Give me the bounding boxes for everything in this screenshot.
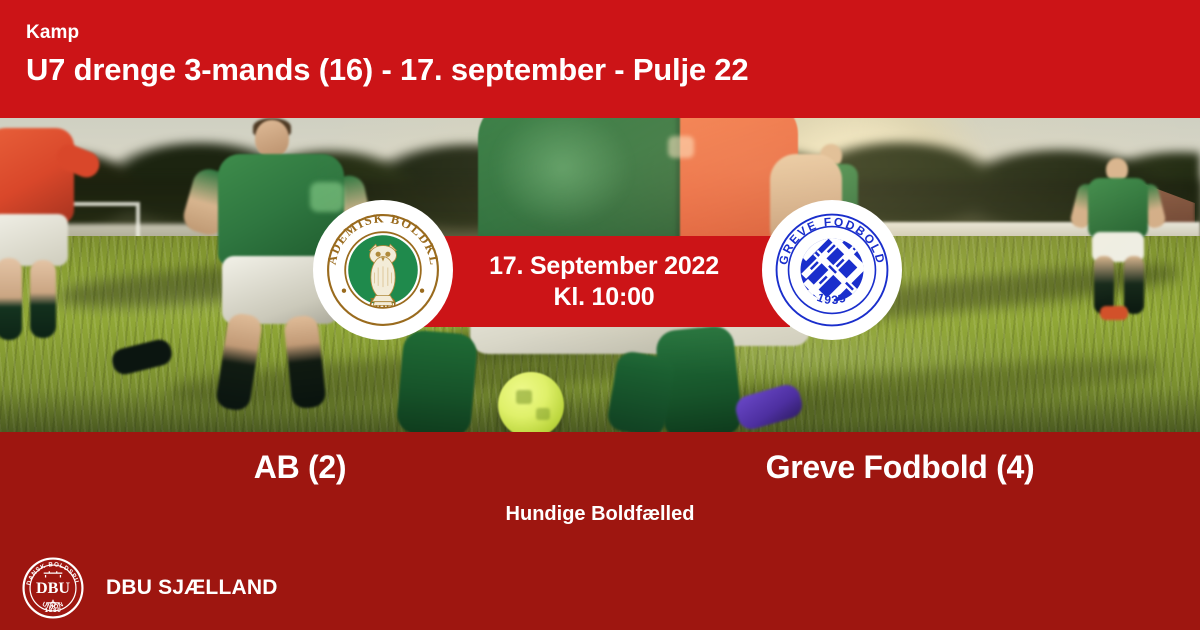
- match-time: Kl. 10:00: [553, 282, 654, 313]
- away-club-crest[interactable]: GREVE FODBOLD 1935: [762, 200, 902, 340]
- header-banner: Kamp U7 drenge 3-mands (16) - 17. septem…: [0, 0, 1200, 118]
- greve-crest-icon: GREVE FODBOLD 1935: [769, 207, 895, 333]
- venue-name: Hundige Boldfælled: [0, 503, 1200, 526]
- home-club-crest[interactable]: AKADEMISK BOLDKLUB 1889: [313, 200, 453, 340]
- page-title: U7 drenge 3-mands (16) - 17. september -…: [26, 52, 748, 88]
- header-eyebrow: Kamp: [26, 22, 79, 44]
- footer-bar: DANSK BOLDSPIL UNION DBU 1889 DBU SJÆLLA…: [0, 545, 1200, 630]
- match-date: 17. September 2022: [489, 251, 719, 282]
- dbu-logo-icon[interactable]: DANSK BOLDSPIL UNION DBU 1889: [22, 557, 84, 619]
- dbu-monogram: DBU: [36, 579, 70, 596]
- home-team-name: AB (2): [0, 449, 600, 486]
- away-team-name: Greve Fodbold (4): [600, 449, 1200, 486]
- organisation-label: DBU SJÆLLAND: [106, 576, 278, 600]
- match-datetime-band: 17. September 2022 Kl. 10:00: [418, 236, 790, 327]
- match-card: Kamp U7 drenge 3-mands (16) - 17. septem…: [0, 0, 1200, 630]
- dbu-year: 1889: [45, 607, 62, 614]
- scoreline: AB (2) Greve Fodbold (4): [0, 436, 1200, 498]
- ab-crest-icon: AKADEMISK BOLDKLUB 1889: [322, 209, 444, 331]
